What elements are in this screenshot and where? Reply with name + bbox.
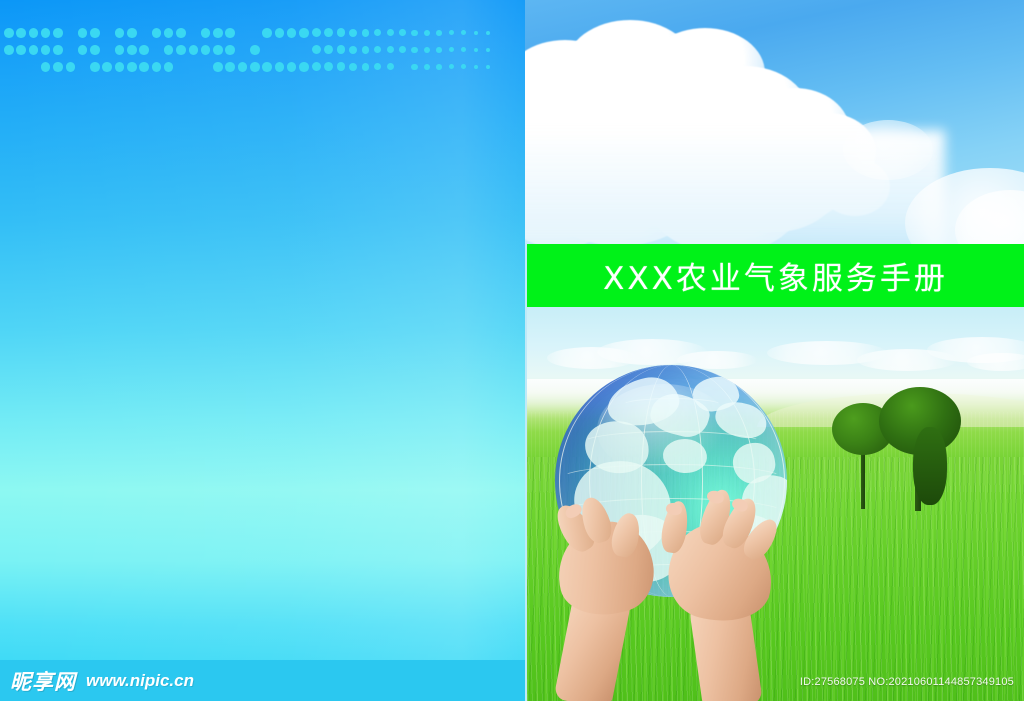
- decorative-dot: [4, 28, 14, 38]
- decorative-dot: [275, 28, 285, 38]
- decorative-dot: [337, 28, 346, 37]
- panel-sheen: [0, 0, 525, 701]
- decorative-dot: [139, 45, 149, 55]
- decorative-dot: [90, 45, 100, 55]
- decorative-dot: [486, 65, 490, 69]
- decorative-dot: [486, 31, 490, 35]
- decorative-dot: [299, 62, 309, 72]
- decorative-dot: [164, 45, 174, 55]
- decorative-dot: [337, 62, 346, 71]
- decorative-dot: [349, 63, 357, 71]
- decorative-dot: [201, 28, 211, 38]
- decorative-dot: [127, 45, 137, 55]
- decorative-dot: [189, 45, 199, 55]
- decorative-dot: [102, 62, 112, 72]
- decorative-dot: [4, 45, 14, 55]
- decorative-dot: [53, 28, 63, 38]
- tree-trunk-left: [861, 447, 865, 509]
- decorative-dot: [374, 63, 381, 70]
- decorative-dot: [115, 62, 125, 72]
- title-banner: XXX农业气象服务手册: [527, 244, 1024, 307]
- decorative-dot: [176, 45, 186, 55]
- decorative-dot: [424, 47, 430, 53]
- decorative-dot: [238, 62, 248, 72]
- decorative-dot: [312, 62, 321, 71]
- decorative-dot: [250, 45, 260, 55]
- decorative-dot: [152, 62, 162, 72]
- decorative-dot: [115, 45, 125, 55]
- decorative-dot: [53, 62, 63, 72]
- decorative-dot: [362, 63, 370, 71]
- decorative-dot: [486, 48, 490, 52]
- decorative-dot: [387, 46, 394, 53]
- distant-cloud: [967, 353, 1024, 371]
- decorative-dot: [324, 28, 333, 37]
- decorative-dot: [201, 45, 211, 55]
- decorative-dot: [362, 46, 370, 54]
- decorative-dot: [66, 62, 76, 72]
- decorative-dot: [127, 28, 137, 38]
- decorative-dot: [41, 62, 51, 72]
- decorative-dot: [387, 63, 394, 70]
- decorative-dot: [29, 45, 39, 55]
- decorative-dot: [387, 29, 394, 36]
- decorative-dot: [449, 47, 454, 52]
- decorative-dot: [324, 45, 333, 54]
- decorative-dot: [312, 45, 321, 54]
- decorative-dot: [164, 28, 174, 38]
- decorative-dot: [474, 31, 478, 35]
- decorative-dot: [461, 30, 466, 35]
- decorative-dot: [78, 45, 88, 55]
- dot-pattern-decoration: [4, 28, 504, 74]
- decorative-dot: [436, 47, 442, 53]
- nipic-url: www.nipic.cn: [86, 671, 194, 691]
- decorative-dot: [176, 28, 186, 38]
- decorative-dot: [225, 28, 235, 38]
- decorative-dot: [349, 29, 357, 37]
- decorative-dot: [41, 45, 51, 55]
- decorative-dot: [399, 46, 406, 53]
- decorative-dot: [164, 62, 174, 72]
- decorative-dot: [53, 45, 63, 55]
- decorative-dot: [29, 28, 39, 38]
- decorative-dot: [474, 48, 478, 52]
- decorative-dot: [461, 64, 466, 69]
- back-cover-panel: [0, 0, 525, 701]
- decorative-dot: [225, 62, 235, 72]
- decorative-dot: [90, 28, 100, 38]
- decorative-dot: [362, 29, 370, 37]
- decorative-dot: [399, 29, 406, 36]
- decorative-dot: [16, 28, 26, 38]
- decorative-dot: [275, 62, 285, 72]
- decorative-dot: [436, 30, 442, 36]
- decorative-dot: [287, 28, 297, 38]
- decorative-dot: [78, 28, 88, 38]
- decorative-dot: [474, 65, 478, 69]
- decorative-dot: [411, 64, 417, 70]
- sky-photo: [525, 0, 1024, 245]
- decorative-dot: [250, 62, 260, 72]
- decorative-dot: [312, 28, 321, 37]
- decorative-dot: [337, 45, 346, 54]
- decorative-dot: [152, 28, 162, 38]
- cover-spread: XXX农业气象服务手册 昵享网 www.nipic.cn ID: [0, 0, 1024, 701]
- decorative-dot: [436, 64, 442, 70]
- decorative-dot: [262, 62, 272, 72]
- decorative-dot: [411, 47, 417, 53]
- decorative-dot: [287, 62, 297, 72]
- decorative-dot: [424, 64, 430, 70]
- decorative-dot: [41, 28, 51, 38]
- decorative-dot: [324, 62, 333, 71]
- decorative-dot: [16, 45, 26, 55]
- decorative-dot: [213, 45, 223, 55]
- decorative-dot: [374, 46, 381, 53]
- page-title: XXX农业气象服务手册: [603, 253, 948, 298]
- decorative-dot: [127, 62, 137, 72]
- decorative-dot: [424, 30, 430, 36]
- field-photo: [527, 307, 1024, 701]
- decorative-dot: [213, 28, 223, 38]
- decorative-dot: [139, 62, 149, 72]
- decorative-dot: [115, 28, 125, 38]
- decorative-dot: [262, 28, 272, 38]
- decorative-dot: [213, 62, 223, 72]
- tree-foliage-lower: [913, 427, 947, 505]
- front-cover-panel: XXX农业气象服务手册: [525, 0, 1024, 701]
- decorative-dot: [411, 30, 417, 36]
- id-stamp: ID:27568075 NO:20210601144857349105: [800, 676, 1014, 688]
- decorative-dot: [299, 28, 309, 38]
- decorative-dot: [449, 30, 454, 35]
- decorative-dot: [374, 29, 381, 36]
- decorative-dot: [461, 47, 466, 52]
- decorative-dot: [225, 45, 235, 55]
- decorative-dot: [449, 64, 454, 69]
- decorative-dot: [349, 46, 357, 54]
- cloud-wisp: [843, 120, 933, 180]
- nipic-logo: 昵享网: [10, 666, 76, 696]
- watermark-bar: 昵享网 www.nipic.cn: [0, 660, 525, 701]
- decorative-dot: [90, 62, 100, 72]
